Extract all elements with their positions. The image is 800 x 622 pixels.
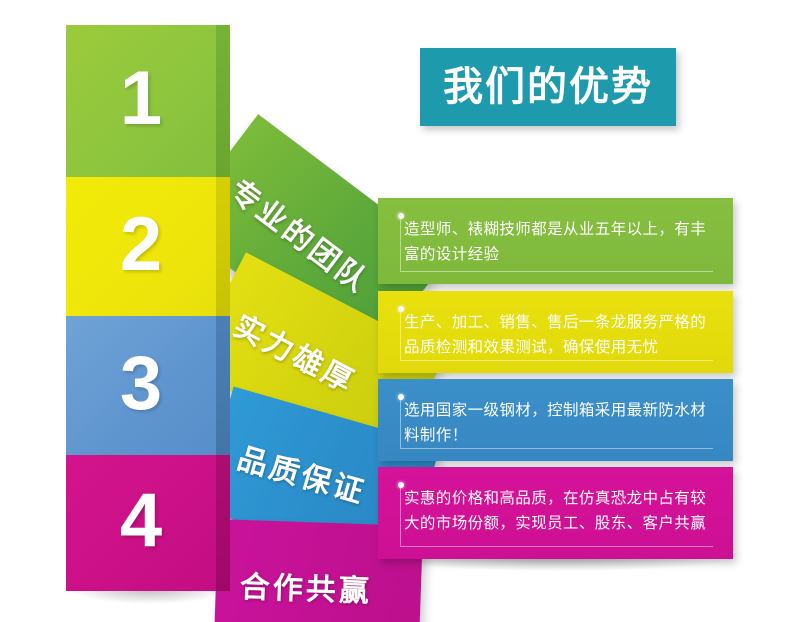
description-panel-4[interactable]: 实惠的价格和高品质，在仿真恐龙中占有较大的市场份额，实现员工、股东、客户共赢: [378, 467, 733, 559]
bullet-dot-icon: [398, 482, 404, 488]
number-label-1: 1: [120, 61, 162, 137]
number-block-side-4: [216, 455, 230, 591]
description-panel-1[interactable]: 造型师、裱糊技师都是从业五年以上，有丰富的设计经验: [378, 198, 733, 284]
page-title-banner: 我们的优势: [420, 48, 676, 126]
description-panel-3[interactable]: 选用国家一级钢材，控制箱采用最新防水材料制作！: [378, 379, 733, 461]
description-text-2: 生产、加工、销售、售后一条龙服务严格的品质检测和效果测试，确保使用无忧: [404, 311, 715, 361]
page-title: 我们的优势: [443, 67, 653, 107]
ribbon-label-3: 品质保证: [233, 433, 372, 512]
bullet-dot-icon: [398, 306, 404, 312]
description-text-4: 实惠的价格和高品质，在仿真恐龙中占有较大的市场份额，实现员工、股东、客户共赢: [404, 487, 715, 537]
number-block-side-1: [216, 25, 230, 177]
description-text-3: 选用国家一级钢材，控制箱采用最新防水材料制作！: [404, 399, 715, 449]
number-block-2[interactable]: 2: [66, 177, 216, 316]
ribbon-label-4: 合作共赢: [239, 562, 372, 611]
number-block-4[interactable]: 4: [66, 455, 216, 591]
number-block-3[interactable]: 3: [66, 316, 216, 455]
number-block-side-2: [216, 177, 230, 316]
number-label-3: 3: [120, 346, 162, 422]
ribbon-label-2: 实力雄厚: [227, 302, 364, 402]
panel-stack-shadow: [384, 557, 734, 571]
bullet-dot-icon: [398, 213, 404, 219]
number-label-2: 2: [120, 207, 162, 283]
number-block-side-3: [216, 316, 230, 455]
infographic-canvas: 我们的优势 专业的团队 实力雄厚 品质保证 合作共赢 1 2 3 4 造型师、裱…: [0, 0, 800, 622]
number-block-1[interactable]: 1: [66, 25, 216, 177]
description-panel-2[interactable]: 生产、加工、销售、售后一条龙服务严格的品质检测和效果测试，确保使用无忧: [378, 291, 733, 373]
number-label-4: 4: [120, 483, 162, 559]
description-text-1: 造型师、裱糊技师都是从业五年以上，有丰富的设计经验: [404, 218, 715, 268]
bullet-dot-icon: [398, 394, 404, 400]
